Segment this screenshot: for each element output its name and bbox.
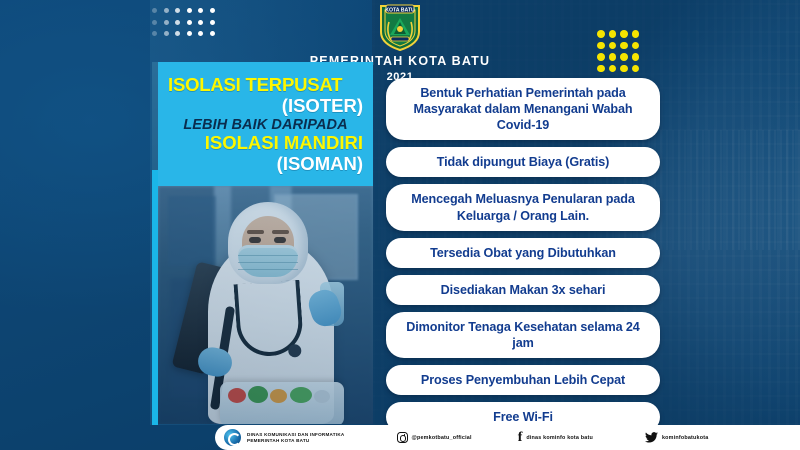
twitter-label: kominfobatukota	[662, 435, 708, 441]
facebook-handle[interactable]: f dinas kominfo kota batu	[518, 431, 593, 445]
kota-batu-crest-icon: KOTA BATU	[377, 2, 423, 52]
footer-organisation: DINAS KOMUNIKASI DAN INFORMATIKA PEMERIN…	[247, 432, 345, 443]
instagram-icon	[397, 432, 408, 443]
poster-header: KOTA BATU PEMERINTAH KOTA BATU 2021	[0, 2, 800, 84]
poster-title-panel: ISOLASI TERPUSAT (ISOTER) LEBIH BAIK DAR…	[158, 62, 373, 186]
title-line-4: ISOLASI MANDIRI	[168, 133, 363, 154]
twitter-icon	[645, 432, 658, 443]
poster-canvas: KOTA BATU PEMERINTAH KOTA BATU 2021	[0, 0, 800, 450]
ppe-worker-photo	[158, 186, 373, 424]
benefit-pill: Mencegah Meluasnya Penularan pada Keluar…	[386, 184, 660, 230]
kominfo-logo-icon	[224, 429, 241, 446]
instagram-handle[interactable]: @pemkotbatu_official	[397, 432, 472, 443]
government-title: PEMERINTAH KOTA BATU	[0, 54, 800, 70]
benefit-pill: Disediakan Makan 3x sehari	[386, 275, 660, 305]
title-line-2: (ISOTER)	[168, 96, 363, 117]
benefits-list: Bentuk Perhatian Pemerintah pada Masyara…	[386, 78, 660, 432]
footer-org-line-2: PEMERINTAH KOTA BATU	[247, 438, 345, 443]
facebook-icon: f	[518, 431, 523, 445]
facebook-label: dinas kominfo kota batu	[526, 435, 593, 441]
benefit-pill: Bentuk Perhatian Pemerintah pada Masyara…	[386, 78, 660, 140]
benefit-pill: Dimonitor Tenaga Kesehatan selama 24 jam	[386, 312, 660, 358]
footer-org-line-1: DINAS KOMUNIKASI DAN INFORMATIKA	[247, 432, 345, 437]
title-line-1: ISOLASI TERPUSAT	[168, 75, 363, 96]
benefit-pill: Tidak dipungut Biaya (Gratis)	[386, 147, 660, 177]
title-line-3: LEBIH BAIK DARIPADA	[168, 117, 363, 133]
title-line-5: (ISOMAN)	[168, 154, 363, 175]
benefit-pill: Tersedia Obat yang Dibutuhkan	[386, 238, 660, 268]
instagram-label: @pemkotbatu_official	[412, 435, 472, 441]
footer-bar: DINAS KOMUNIKASI DAN INFORMATIKA PEMERIN…	[215, 425, 800, 450]
photo-color-overlay	[158, 186, 373, 424]
twitter-handle[interactable]: kominfobatukota	[645, 432, 708, 443]
benefit-pill: Proses Penyembuhan Lebih Cepat	[386, 365, 660, 395]
svg-text:KOTA BATU: KOTA BATU	[385, 8, 415, 14]
